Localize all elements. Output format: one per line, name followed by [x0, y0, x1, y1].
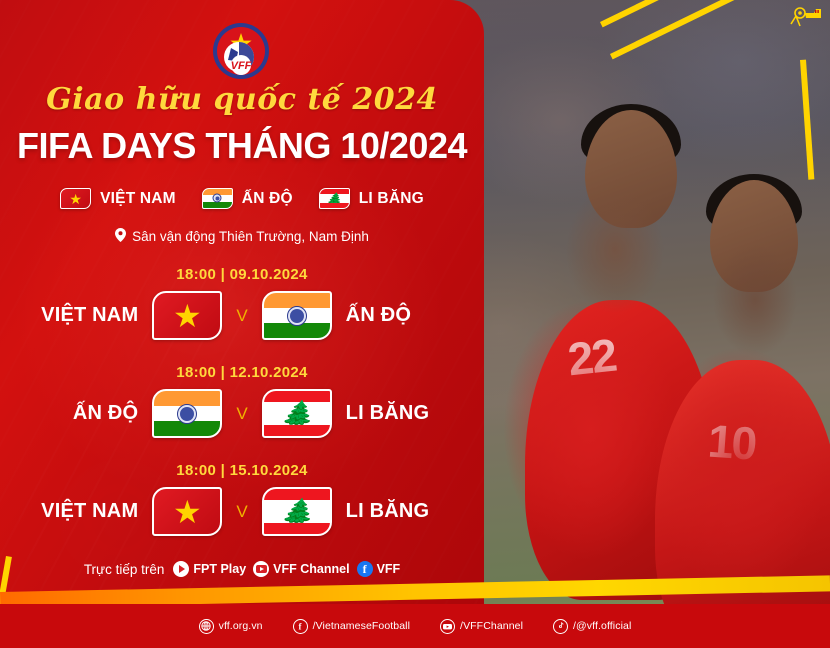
versus-label: V [236, 502, 247, 522]
broadcast-row: Trực tiếp trên FPT Play VFF Channel f VF… [0, 561, 484, 577]
match-datetime: 18:00 | 15.10.2024 [0, 462, 484, 479]
versus-label: V [236, 404, 247, 424]
youtube-icon [440, 619, 455, 634]
channel-name: FPT Play [193, 562, 246, 576]
fpt-play-icon [173, 561, 189, 577]
star-icon: ★ [173, 496, 202, 528]
photo-overlay [440, 0, 830, 648]
footer-link-text: /VFFChannel [460, 620, 523, 632]
match-time: 18:00 [176, 266, 216, 283]
match-row: 18:00 | 12.10.2024 ẤN ĐỘ V 🌲 LI BĂNG [0, 364, 484, 438]
match-date: 09.10.2024 [230, 266, 308, 283]
channel-name: VFF Channel [273, 562, 349, 576]
footer-link-text: /@vff.official [573, 620, 631, 632]
chakra-icon [177, 404, 197, 424]
star-icon: ★ [69, 192, 82, 206]
player-hair [706, 174, 802, 228]
page-title: FIFA DAYS THÁNG 10/2024 [0, 125, 484, 167]
vff-logo-icon: VFF [212, 22, 270, 80]
facebook-icon: f [293, 619, 308, 634]
chakra-icon [287, 306, 307, 326]
footer-link-text: /VietnameseFootball [313, 620, 410, 632]
match-time: 18:00 [176, 462, 216, 479]
match-time: 18:00 [176, 364, 216, 381]
svg-text:VFF: VFF [231, 60, 252, 72]
vietnam-flag: ★ [152, 487, 222, 536]
broadcast-vff-facebook[interactable]: f VFF [357, 561, 401, 577]
broadcast-label: Trực tiếp trên [84, 562, 165, 577]
jersey-number: 22 [565, 328, 618, 387]
footer-links: vff.org.vn f /VietnameseFootball /VFFCha… [0, 604, 830, 648]
match-datetime: 18:00 | 09.10.2024 [0, 266, 484, 283]
facebook-icon: f [357, 561, 373, 577]
globe-icon [199, 619, 214, 634]
away-team-name: LI BĂNG [346, 402, 466, 425]
match-datetime: 18:00 | 12.10.2024 [0, 364, 484, 381]
cedar-icon: 🌲 [280, 401, 312, 427]
svg-text:f: f [299, 621, 303, 631]
versus-label: V [236, 306, 247, 326]
player-head [585, 110, 677, 228]
separator: | [221, 266, 226, 283]
lebanon-flag: 🌲 [262, 389, 332, 438]
jersey-number: 10 [706, 413, 757, 470]
india-flag [262, 291, 332, 340]
chakra-icon [213, 194, 222, 203]
footer-link-youtube[interactable]: /VFFChannel [440, 619, 523, 634]
match-row: 18:00 | 15.10.2024 VIỆT NAM ★ V 🌲 LI BĂN… [0, 462, 484, 536]
home-team-name: ẤN ĐỘ [18, 402, 138, 425]
team-name: VIỆT NAM [100, 190, 176, 208]
india-flag [152, 389, 222, 438]
match-date: 12.10.2024 [230, 364, 308, 381]
team-name: LI BĂNG [359, 190, 424, 208]
lebanon-flag: 🌲 [262, 487, 332, 536]
venue: Sân vận động Thiên Trường, Nam Định [0, 228, 484, 245]
teams-row: ★ VIỆT NAM ẤN ĐỘ 🌲 LI BĂNG [0, 188, 484, 209]
poster-root: 22 10 VFF [0, 0, 830, 648]
lebanon-flag: 🌲 [319, 188, 350, 209]
broadcast-vff-channel[interactable]: VFF Channel [253, 561, 349, 577]
india-flag [202, 188, 233, 209]
home-team-name: VIỆT NAM [18, 500, 138, 523]
team-chip-india: ẤN ĐỘ [202, 188, 293, 209]
venue-text: Sân vận động Thiên Trường, Nam Định [132, 229, 369, 244]
footer-link-website[interactable]: vff.org.vn [199, 619, 263, 634]
footer-link-facebook[interactable]: f /VietnameseFootball [293, 619, 410, 634]
vietnam-flag: ★ [152, 291, 222, 340]
broadcast-fpt-play[interactable]: FPT Play [173, 561, 246, 577]
players-photo: 22 10 [440, 0, 830, 648]
away-team-name: LI BĂNG [346, 500, 466, 523]
cedar-icon: 🌲 [280, 499, 312, 525]
star-icon: ★ [173, 300, 202, 332]
team-name: ẤN ĐỘ [242, 190, 293, 208]
script-title: Giao hữu quốc tế 2024 [0, 82, 484, 117]
channel-name: VFF [377, 562, 401, 576]
separator: | [221, 364, 226, 381]
home-team-name: VIỆT NAM [18, 304, 138, 327]
separator: | [221, 462, 226, 479]
tiktok-icon [553, 619, 568, 634]
player-head [710, 180, 798, 292]
away-team-name: ẤN ĐỘ [346, 304, 466, 327]
match-date: 15.10.2024 [230, 462, 308, 479]
player-hair [581, 104, 681, 162]
team-chip-lebanon: 🌲 LI BĂNG [319, 188, 424, 209]
footer-link-text: vff.org.vn [219, 620, 263, 632]
player-jersey [525, 300, 715, 600]
location-pin-icon [115, 228, 126, 245]
vietnam-flag: ★ [60, 188, 91, 209]
sponsor-logo-icon [790, 4, 824, 28]
footer-link-tiktok[interactable]: /@vff.official [553, 619, 631, 634]
youtube-icon [253, 561, 269, 577]
match-row: 18:00 | 09.10.2024 VIỆT NAM ★ V ẤN ĐỘ [0, 266, 484, 340]
team-chip-vietnam: ★ VIỆT NAM [60, 188, 176, 209]
